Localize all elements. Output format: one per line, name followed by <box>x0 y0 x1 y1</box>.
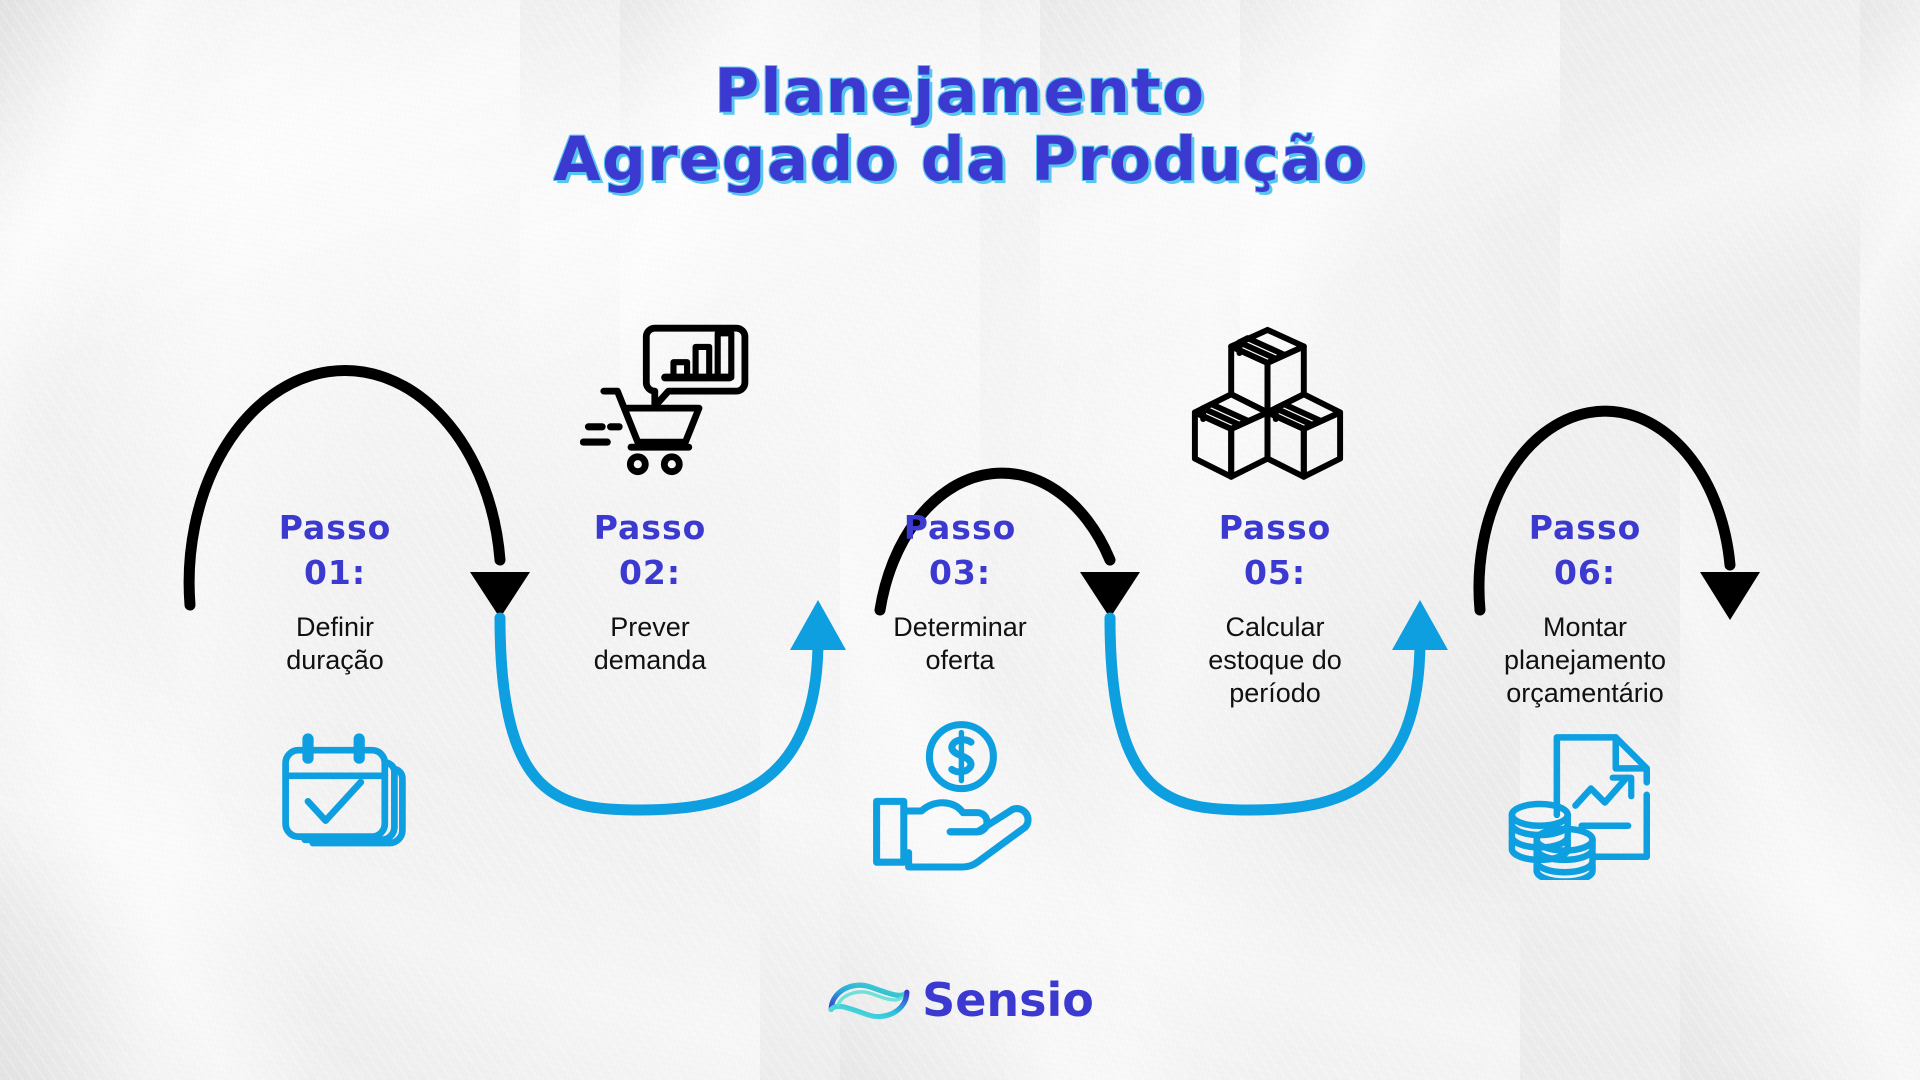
step-01-desc-line-1: Definir <box>210 611 460 644</box>
step-06-label-line-2: 06: <box>1460 550 1710 595</box>
step-02-desc-line-1: Prever <box>525 611 775 644</box>
step-03-label-line-1: Passo <box>835 505 1085 550</box>
step-02-label-line-2: 02: <box>525 550 775 595</box>
infinity-wave-icon <box>826 972 912 1028</box>
step-06-desc-line-3: orçamentário <box>1460 677 1710 710</box>
step-02-description: Prever demanda <box>525 611 775 677</box>
step-05-label: Passo 05: <box>1150 505 1400 595</box>
step-02: Passo 02: Prever demanda <box>525 505 775 677</box>
step-03-desc-line-1: Determinar <box>835 611 1085 644</box>
document-chart-coins-icon <box>1505 725 1680 880</box>
step-01-label-line-1: Passo <box>210 505 460 550</box>
step-01: Passo 01: Definir duração <box>210 505 460 677</box>
step-01-label-line-2: 01: <box>210 550 460 595</box>
step-06-label-line-1: Passo <box>1460 505 1710 550</box>
infographic-stage: Planejamento Agregado da Produção <box>0 0 1920 1080</box>
sensio-logo: Sensio <box>0 972 1920 1028</box>
step-05-description: Calcular estoque do período <box>1150 611 1400 710</box>
shopping-cart-chart-icon <box>580 318 750 488</box>
step-03-label: Passo 03: <box>835 505 1085 595</box>
step-02-desc-line-2: demanda <box>525 644 775 677</box>
step-06-desc-line-1: Montar <box>1460 611 1710 644</box>
step-05-desc-line-1: Calcular <box>1150 611 1400 644</box>
step-06: Passo 06: Montar planejamento orçamentár… <box>1460 505 1710 710</box>
step-03-desc-line-2: oferta <box>835 644 1085 677</box>
step-05-desc-line-2: estoque do <box>1150 644 1400 677</box>
step-01-desc-line-2: duração <box>210 644 460 677</box>
step-01-description: Definir duração <box>210 611 460 677</box>
calendar-check-icon <box>260 715 420 875</box>
step-03-description: Determinar oferta <box>835 611 1085 677</box>
step-02-label: Passo 02: <box>525 505 775 595</box>
stacked-boxes-icon <box>1185 320 1350 485</box>
step-02-label-line-1: Passo <box>525 505 775 550</box>
step-06-description: Montar planejamento orçamentário <box>1460 611 1710 710</box>
sensio-logo-text: Sensio <box>922 975 1094 1025</box>
hand-holding-coin-icon <box>865 715 1045 875</box>
step-01-label: Passo 01: <box>210 505 460 595</box>
step-03-label-line-2: 03: <box>835 550 1085 595</box>
step-03: Passo 03: Determinar oferta <box>835 505 1085 677</box>
step-05-label-line-2: 05: <box>1150 550 1400 595</box>
step-05-label-line-1: Passo <box>1150 505 1400 550</box>
step-05-desc-line-3: período <box>1150 677 1400 710</box>
step-06-desc-line-2: planejamento <box>1460 644 1710 677</box>
step-05: Passo 05: Calcular estoque do período <box>1150 505 1400 710</box>
step-06-label: Passo 06: <box>1460 505 1710 595</box>
